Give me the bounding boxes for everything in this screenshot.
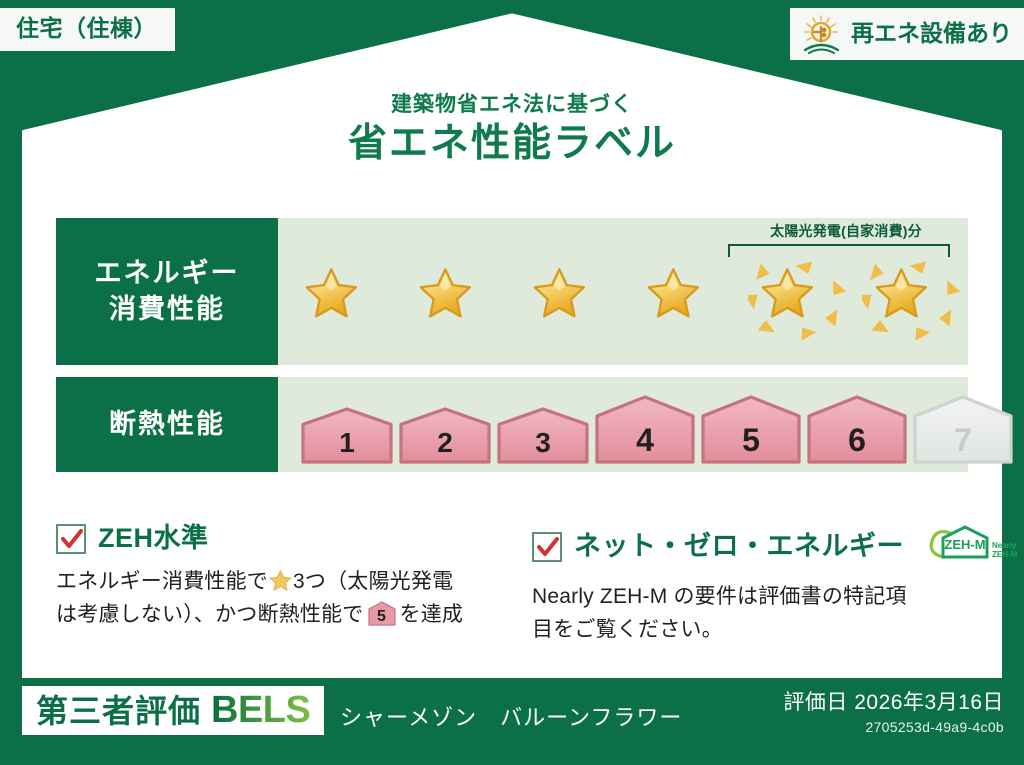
star-icon	[406, 251, 518, 351]
zeh-desc-part2: 3つ（太陽光発電	[293, 570, 453, 593]
rating-rows: エネルギー 消費性能 太陽光発電(自家消費)分	[56, 218, 968, 472]
solar-sun-icon-svg	[800, 14, 844, 54]
insulation-grade-3: 3	[496, 407, 590, 465]
star-5	[748, 251, 860, 351]
insulation-rating-panel: 1 2 3	[278, 377, 968, 472]
evaluation-id: 2705253d-49a9-4c0b	[783, 719, 1004, 735]
title-block: 建築物省エネ法に基づく 省エネ性能ラベル	[0, 92, 1024, 168]
star-6	[862, 251, 974, 351]
compliance-checks: ZEH水準 エネルギー消費性能で3つ（太陽光発電 は考慮しない）、かつ断熱性能で…	[56, 524, 972, 646]
star-rating	[292, 248, 960, 353]
energy-rating-panel: 太陽光発電(自家消費)分	[278, 218, 968, 365]
category-tag: 住宅（住棟）	[0, 8, 175, 51]
building-name: シャーメゾン バルーンフラワー	[340, 700, 682, 732]
star-3	[520, 251, 632, 351]
insulation-grade-inline-icon: 5	[367, 601, 397, 626]
star-icon	[292, 251, 404, 351]
insulation-grade-number: 4	[594, 424, 696, 456]
insulation-grade-number: 5	[700, 424, 802, 456]
check-icon	[535, 534, 561, 560]
insulation-grade-number: 2	[398, 429, 492, 457]
insulation-grade-number: 6	[806, 424, 908, 456]
zeh-standard-title: ZEH水準	[98, 524, 209, 554]
bels-en-label: BELS	[211, 691, 310, 729]
evaluation-date: 評価日 2026年3月16日	[783, 690, 1004, 716]
check-icon	[59, 526, 85, 552]
star-icon	[520, 251, 632, 351]
zeh-desc-part3: を達成	[400, 603, 464, 626]
footer-bar: 第三者評価 BELS シャーメゾン バルーンフラワー 評価日 2026年3月16…	[0, 678, 1024, 765]
zeh-standard-section: ZEH水準 エネルギー消費性能で3つ（太陽光発電 は考慮しない）、かつ断熱性能で…	[56, 524, 496, 646]
zeh-standard-header: ZEH水準	[56, 524, 496, 554]
net-zero-energy-checkbox[interactable]	[532, 532, 562, 562]
net-zero-energy-section: ネット・ゼロ・エネルギー ZEH-M Nearly ZEH-M Nearly Z…	[532, 524, 972, 646]
renewable-badge-label: 再エネ設備あり	[851, 21, 1012, 47]
zeh-m-logo-svg: ZEH-M Nearly ZEH-M	[922, 524, 1018, 564]
star-icon	[862, 251, 974, 351]
star-icon	[269, 569, 292, 591]
energy-label-line1: エネルギー	[95, 256, 240, 292]
insulation-grade-number: 1	[300, 429, 394, 457]
star-1	[292, 251, 404, 351]
svg-text:Nearly: Nearly	[992, 541, 1017, 550]
insulation-grade-1: 1	[300, 407, 394, 465]
zeh-standard-description: エネルギー消費性能で3つ（太陽光発電 は考慮しない）、かつ断熱性能で5を達成	[56, 565, 496, 631]
star-icon	[634, 251, 746, 351]
energy-performance-row: エネルギー 消費性能 太陽光発電(自家消費)分	[56, 218, 968, 365]
zeh-m-logo: ZEH-M Nearly ZEH-M	[922, 524, 1018, 569]
svg-text:ZEH-M: ZEH-M	[992, 550, 1018, 559]
insulation-grade-number: 3	[496, 429, 590, 457]
insulation-grade-6: 6	[806, 395, 908, 465]
insulation-grade-7: 7	[912, 395, 1014, 465]
insulation-grade-4: 4	[594, 395, 696, 465]
zeh-desc-part1: エネルギー消費性能で	[56, 570, 268, 593]
page-title: 省エネ性能ラベル	[0, 120, 1024, 168]
insulation-grade-5: 5	[700, 395, 802, 465]
bels-jp-label: 第三者評価	[36, 694, 201, 729]
insulation-grade-number: 7	[912, 424, 1014, 456]
nze-desc-line2: 目をご覧ください。	[532, 618, 723, 641]
evaluation-meta: 評価日 2026年3月16日 2705253d-49a9-4c0b	[783, 690, 1004, 735]
insulation-label-text: 断熱性能	[109, 407, 225, 443]
insulation-performance-row: 断熱性能 1	[56, 377, 968, 472]
label-subtitle: 建築物省エネ法に基づく	[0, 92, 1024, 117]
zeh-desc-line2-part1: は考慮しない）、かつ断熱性能で	[56, 603, 364, 626]
star-2	[406, 251, 518, 351]
bels-certification-badge: 第三者評価 BELS	[22, 686, 324, 735]
insulation-performance-label: 断熱性能	[56, 377, 278, 472]
insulation-grade-inline-number: 5	[367, 609, 397, 625]
net-zero-energy-title: ネット・ゼロ・エネルギー	[574, 532, 904, 562]
solar-sun-icon	[800, 14, 844, 54]
net-zero-energy-header: ネット・ゼロ・エネルギー ZEH-M Nearly ZEH-M	[532, 524, 972, 569]
energy-label-line2: 消費性能	[109, 292, 225, 328]
energy-performance-label: 住宅（住棟）	[0, 0, 1024, 765]
zeh-standard-checkbox[interactable]	[56, 524, 86, 554]
star-4	[634, 251, 746, 351]
star-icon	[748, 251, 860, 351]
nze-desc-line1: Nearly ZEH-M の要件は評価書の特記項	[532, 585, 907, 608]
insulation-grade-scale: 1 2 3	[300, 385, 1014, 465]
net-zero-energy-description: Nearly ZEH-M の要件は評価書の特記項 目をご覧ください。	[532, 580, 972, 646]
energy-performance-label: エネルギー 消費性能	[56, 218, 278, 365]
svg-text:ZEH-M: ZEH-M	[944, 537, 985, 552]
renewable-equipment-badge: 再エネ設備あり	[790, 8, 1024, 60]
solar-generation-note: 太陽光発電(自家消費)分	[726, 223, 966, 240]
insulation-grade-2: 2	[398, 407, 492, 465]
